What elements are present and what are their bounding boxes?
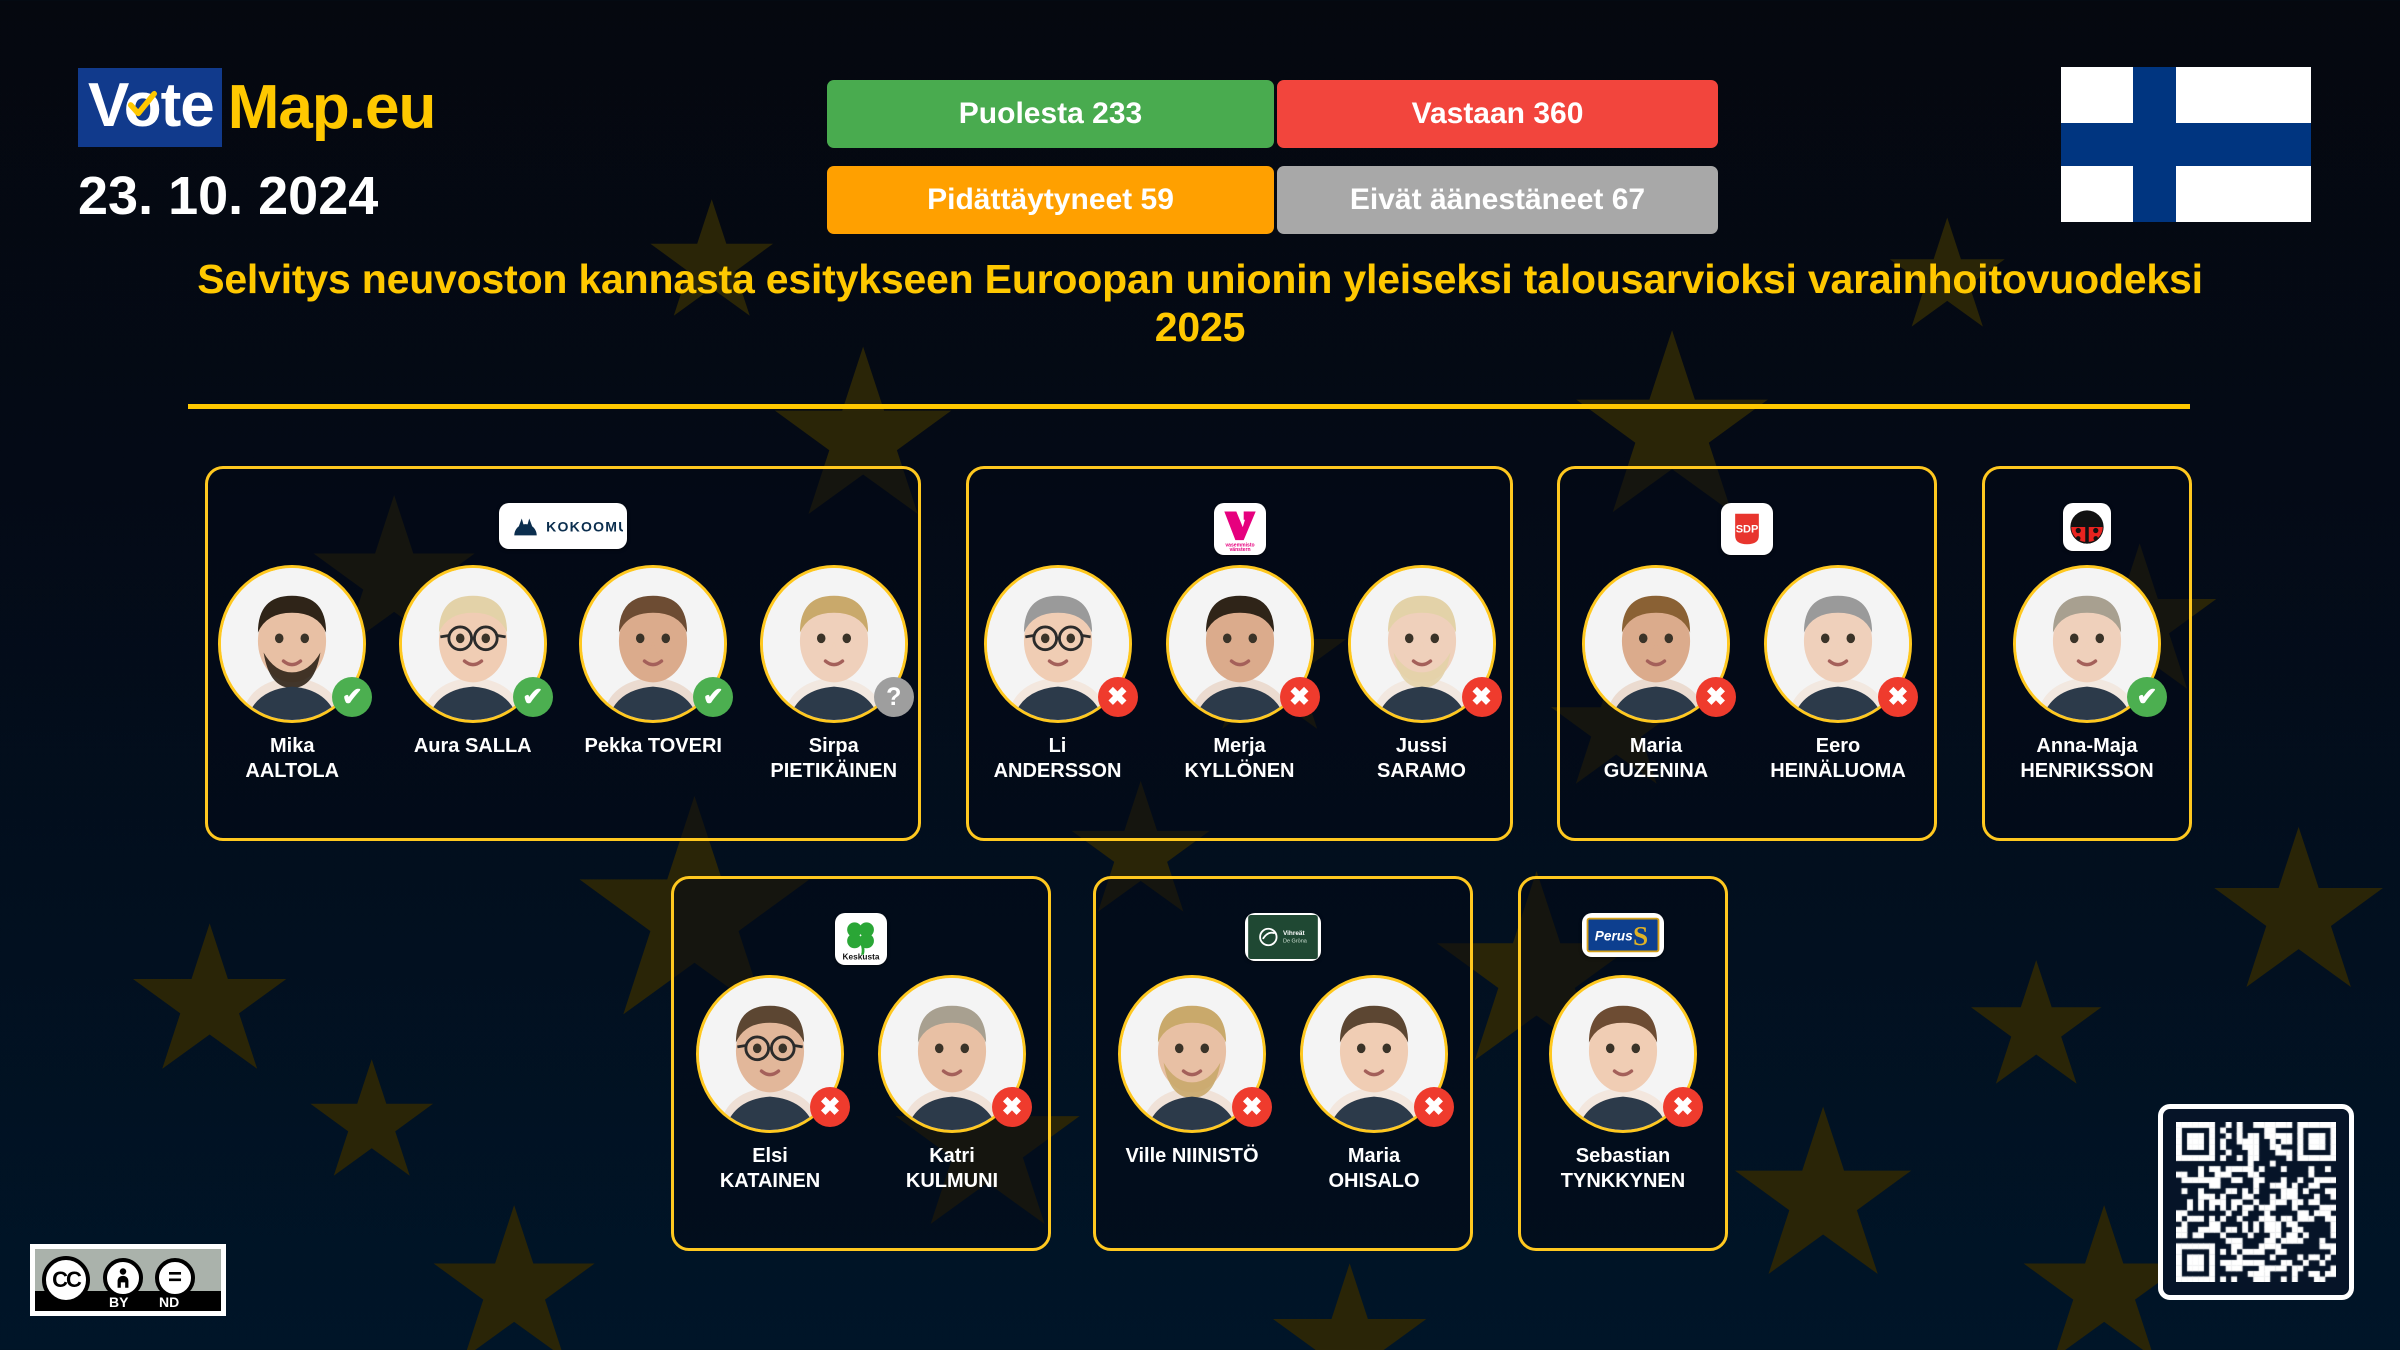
member-ohisalo[interactable]: ✖Maria OHISALO (1289, 975, 1459, 1194)
member-name: Elsi KATAINEN (720, 1144, 820, 1194)
member-tynkkynen[interactable]: ✖Sebastian TYNKKYNEN (1538, 975, 1708, 1194)
member-aaltola[interactable]: ✔Mika AALTOLA (208, 565, 377, 784)
member-name: Jussi SARAMO (1377, 734, 1466, 784)
party-card-rkp[interactable]: ✔Anna-Maja HENRIKSSON (1982, 466, 2192, 841)
vote-badge-unknown: ? (874, 677, 914, 717)
vote-badge-no: ✖ (1232, 1087, 1272, 1127)
vote-badge-no: ✖ (992, 1087, 1032, 1127)
member-list: ✖Sebastian TYNKKYNEN (1521, 975, 1725, 1194)
member-list: ✔Anna-Maja HENRIKSSON (1985, 565, 2189, 784)
perussuomalaiset-logo: PerusS (1582, 913, 1664, 957)
member-list: ✖Maria GUZENINA✖Eero HEINÄLUOMA (1560, 565, 1934, 784)
member-guzenina[interactable]: ✖Maria GUZENINA (1571, 565, 1741, 784)
svg-text:De Gröna: De Gröna (1283, 939, 1308, 945)
sdp-logo: SDP (1721, 503, 1773, 555)
no-derivatives-equals-icon: = (155, 1258, 195, 1298)
svg-text:vänstern: vänstern (1229, 547, 1250, 553)
member-list: ✖Li ANDERSSON✖Merja KYLLÖNEN✖Jussi SARAM… (969, 565, 1510, 784)
avatar-wrap: ✔ (218, 565, 366, 723)
avatar-wrap: ✖ (1764, 565, 1912, 723)
party-logo-wrap: KOKOOMUS (208, 503, 918, 549)
cc-by-nd-badge[interactable]: CC = BY ND (30, 1244, 226, 1316)
cc-nd-label: ND (159, 1294, 179, 1310)
cc-by-label: BY (109, 1294, 128, 1310)
member-name: Mika AALTOLA (245, 734, 339, 784)
party-card-sdp[interactable]: SDP✖Maria GUZENINA✖Eero HEINÄLUOMA (1557, 466, 1937, 841)
member-name: Katri KULMUNI (906, 1144, 998, 1194)
member-andersson[interactable]: ✖Li ANDERSSON (973, 565, 1143, 784)
avatar-wrap: ✔ (2013, 565, 2161, 723)
member-name: Merja KYLLÖNEN (1185, 734, 1295, 784)
party-logo-wrap: PerusS (1521, 913, 1725, 957)
member-katainen[interactable]: ✖Elsi KATAINEN (685, 975, 855, 1194)
vasemmistoliitto-logo: vasemmistovänstern (1214, 503, 1266, 555)
party-card-keskusta[interactable]: Keskusta✖Elsi KATAINEN✖Katri KULMUNI (671, 876, 1051, 1251)
rkp-logo (2063, 503, 2111, 551)
member-kyllönen[interactable]: ✖Merja KYLLÖNEN (1155, 565, 1325, 784)
vihreat-logo: VihreätDe Gröna (1245, 913, 1321, 961)
qr-code[interactable] (2158, 1104, 2354, 1300)
party-logo-wrap: VihreätDe Gröna (1096, 913, 1470, 961)
avatar-wrap: ? (760, 565, 908, 723)
member-list: ✖Ville NIINISTÖ✖Maria OHISALO (1096, 975, 1470, 1194)
avatar-wrap: ✖ (1118, 975, 1266, 1133)
member-name: Anna-Maja HENRIKSSON (2020, 734, 2153, 784)
vote-badge-yes: ✔ (513, 677, 553, 717)
party-logo-wrap (1985, 503, 2189, 551)
avatar-wrap: ✖ (878, 975, 1026, 1133)
vote-badge-no: ✖ (810, 1087, 850, 1127)
avatar-wrap: ✖ (1300, 975, 1448, 1133)
avatar-wrap: ✖ (1348, 565, 1496, 723)
member-pietikäinen[interactable]: ?Sirpa PIETIKÄINEN (750, 565, 919, 784)
member-niinistö[interactable]: ✖Ville NIINISTÖ (1107, 975, 1277, 1194)
avatar-wrap: ✖ (984, 565, 1132, 723)
avatar-wrap: ✖ (1166, 565, 1314, 723)
member-toveri[interactable]: ✔Pekka TOVERI (569, 565, 738, 784)
vote-badge-no: ✖ (1663, 1087, 1703, 1127)
member-kulmuni[interactable]: ✖Katri KULMUNI (867, 975, 1037, 1194)
member-name: Sirpa PIETIKÄINEN (770, 734, 897, 784)
member-saramo[interactable]: ✖Jussi SARAMO (1337, 565, 1507, 784)
attribution-person-icon (103, 1258, 143, 1298)
avatar-wrap: ✔ (399, 565, 547, 723)
member-name: Maria GUZENINA (1604, 734, 1708, 784)
party-logo-wrap: Keskusta (674, 913, 1048, 965)
member-name: Li ANDERSSON (994, 734, 1122, 784)
vote-badge-yes: ✔ (2127, 677, 2167, 717)
keskusta-logo: Keskusta (835, 913, 887, 965)
cc-badge-inner: CC = BY ND (35, 1249, 221, 1311)
vote-badge-no: ✖ (1462, 677, 1502, 717)
member-list: ✔Mika AALTOLA✔Aura SALLA✔Pekka TOVERI?Si… (208, 565, 918, 784)
kokoomus-logo: KOKOOMUS (499, 503, 627, 549)
party-logo-wrap: SDP (1560, 503, 1934, 555)
vote-badge-no: ✖ (1098, 677, 1138, 717)
vote-badge-yes: ✔ (693, 677, 733, 717)
avatar-wrap: ✖ (696, 975, 844, 1133)
qr-code-canvas (2176, 1122, 2336, 1282)
avatar-wrap: ✖ (1582, 565, 1730, 723)
member-name: Pekka TOVERI (585, 734, 722, 759)
party-cards-container: KOKOOMUS✔Mika AALTOLA✔Aura SALLA✔Pekka T… (0, 0, 2400, 1350)
avatar-wrap: ✖ (1549, 975, 1697, 1133)
svg-text:S: S (1633, 921, 1648, 951)
party-card-vasemmistoliitto[interactable]: vasemmistovänstern✖Li ANDERSSON✖Merja KY… (966, 466, 1513, 841)
vote-badge-no: ✖ (1878, 677, 1918, 717)
member-name: Eero HEINÄLUOMA (1770, 734, 1906, 784)
svg-text:SDP: SDP (1736, 523, 1759, 535)
avatar-wrap: ✔ (579, 565, 727, 723)
member-heinäluoma[interactable]: ✖Eero HEINÄLUOMA (1753, 565, 1923, 784)
svg-text:Perus: Perus (1595, 928, 1633, 943)
vote-badge-no: ✖ (1696, 677, 1736, 717)
party-card-perussuomalaiset[interactable]: PerusS✖Sebastian TYNKKYNEN (1518, 876, 1728, 1251)
member-name: Ville NIINISTÖ (1126, 1144, 1259, 1169)
member-name: Sebastian TYNKKYNEN (1561, 1144, 1685, 1194)
member-name: Aura SALLA (414, 734, 532, 759)
vote-badge-yes: ✔ (332, 677, 372, 717)
member-henriksson[interactable]: ✔Anna-Maja HENRIKSSON (2002, 565, 2172, 784)
svg-text:KOKOOMUS: KOKOOMUS (546, 519, 623, 535)
member-name: Maria OHISALO (1328, 1144, 1419, 1194)
svg-text:Vihreät: Vihreät (1283, 930, 1305, 937)
party-logo-wrap: vasemmistovänstern (969, 503, 1510, 555)
party-card-vihreat[interactable]: VihreätDe Gröna✖Ville NIINISTÖ✖Maria OHI… (1093, 876, 1473, 1251)
member-salla[interactable]: ✔Aura SALLA (389, 565, 558, 784)
svg-text:Keskusta: Keskusta (843, 951, 880, 961)
cc-icon: CC (42, 1256, 90, 1304)
member-list: ✖Elsi KATAINEN✖Katri KULMUNI (674, 975, 1048, 1194)
party-card-kokoomus[interactable]: KOKOOMUS✔Mika AALTOLA✔Aura SALLA✔Pekka T… (205, 466, 921, 841)
vote-badge-no: ✖ (1280, 677, 1320, 717)
vote-badge-no: ✖ (1414, 1087, 1454, 1127)
